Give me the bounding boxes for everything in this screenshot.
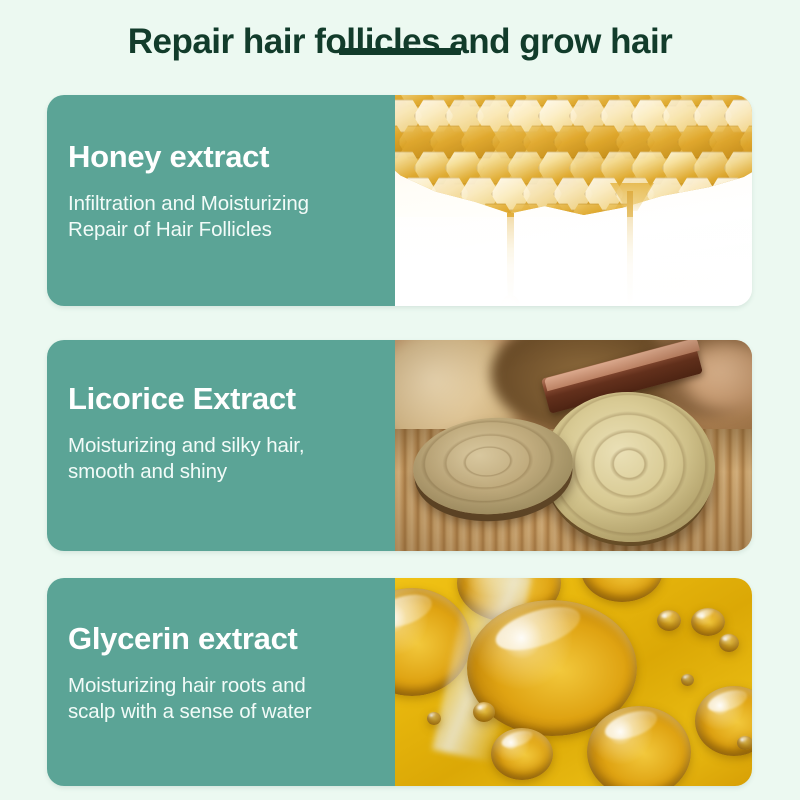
- oil-droplet-small: [681, 674, 694, 686]
- oil-droplet-small: [691, 608, 725, 636]
- card-description-line: Moisturizing hair roots and: [68, 673, 369, 699]
- honeycomb-cell: [739, 177, 752, 211]
- card-heading: Glycerin extract: [68, 622, 369, 656]
- oil-droplet-small: [719, 634, 739, 652]
- infographic-page: Repair hair follicles and grow hair Hone…: [0, 0, 800, 800]
- card-description: Infiltration and Moisturizing Repair of …: [68, 191, 369, 243]
- oil-droplet: [581, 578, 663, 602]
- page-title: Repair hair follicles and grow hair: [0, 22, 800, 62]
- card-text-panel: Licorice Extract Moisturizing and silky …: [47, 340, 395, 551]
- oil-droplet-small: [657, 610, 681, 631]
- card-heading: Licorice Extract: [68, 382, 369, 416]
- licorice-root-image: [395, 340, 752, 551]
- card-description-line: Repair of Hair Follicles: [68, 217, 369, 243]
- card-description-line: Moisturizing and silky hair,: [68, 433, 369, 459]
- oil-droplet: [491, 728, 553, 780]
- title-underline-accent: [339, 48, 461, 55]
- honeycomb-cells: [395, 95, 752, 231]
- ingredient-card-glycerin[interactable]: Glycerin extract Moisturizing hair roots…: [47, 578, 752, 786]
- card-description-line: scalp with a sense of water: [68, 699, 369, 725]
- ingredient-card-honey[interactable]: Honey extract Infiltration and Moisturiz…: [47, 95, 752, 306]
- card-heading: Honey extract: [68, 140, 369, 174]
- oil-droplet: [587, 706, 691, 786]
- page-title-block: Repair hair follicles and grow hair: [0, 22, 800, 62]
- ingredient-card-licorice[interactable]: Licorice Extract Moisturizing and silky …: [47, 340, 752, 551]
- honeycomb-cell: [395, 177, 407, 211]
- oil-droplet-small: [473, 702, 495, 722]
- honey-background-glow: [395, 217, 752, 306]
- card-description: Moisturizing hair roots and scalp with a…: [68, 673, 369, 725]
- honeycomb-image: [395, 95, 752, 306]
- oil-droplet-small: [427, 712, 441, 725]
- oil-droplet-small: [737, 736, 752, 750]
- card-description: Moisturizing and silky hair, smooth and …: [68, 433, 369, 485]
- image-vignette: [395, 340, 752, 551]
- card-text-panel: Honey extract Infiltration and Moisturiz…: [47, 95, 395, 306]
- card-text-panel: Glycerin extract Moisturizing hair roots…: [47, 578, 395, 786]
- card-description-line: Infiltration and Moisturizing: [68, 191, 369, 217]
- card-description-line: smooth and shiny: [68, 459, 369, 485]
- glycerin-droplets-image: [395, 578, 752, 786]
